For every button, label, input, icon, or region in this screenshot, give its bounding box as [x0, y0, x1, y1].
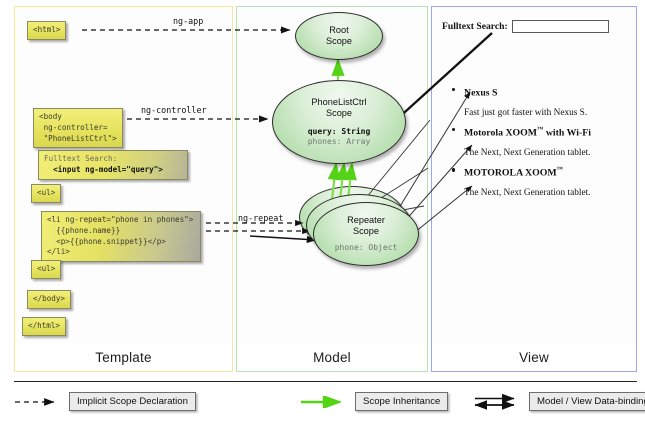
phone-name: Nexus S — [447, 86, 632, 100]
double-arrow-icon — [474, 394, 522, 410]
legend-item-model-view-data-binding: Model / View Data-binding — [474, 392, 645, 411]
code-box-body-close: </body> — [27, 290, 71, 309]
scope-phonelistctrl-title: PhoneListCtrlScope — [311, 97, 366, 119]
code-box-ul-open: <ul> — [31, 184, 61, 203]
column-label-view: View — [431, 344, 637, 372]
phone-name-text: Motorola XOOM — [464, 127, 537, 138]
search-box-code: <input ng-model="query"> — [53, 165, 163, 174]
scope-repeater-line1: Repeater — [347, 215, 385, 225]
legend-divider — [14, 381, 637, 382]
scope-phonelistctrl-line1: PhoneListCtrl — [311, 97, 366, 107]
scope-repeater-line2: Scope — [353, 226, 379, 236]
phone-snippet: The Next, Next Generation tablet. — [447, 147, 632, 159]
scope-prop-phone: phone: Object — [335, 243, 398, 253]
label-ng-repeat: ng-repeat — [238, 213, 283, 223]
scope-root-line1: Root — [329, 25, 348, 35]
phone-name: Motorola XOOM™ with Wi-Fi — [447, 126, 632, 140]
legend-label: Model / View Data-binding — [529, 392, 645, 411]
phone-snippet: Fast just got faster with Nexus S. — [447, 107, 632, 119]
phone-name-text: Nexus S — [464, 87, 497, 98]
dashed-arrow-icon — [14, 396, 62, 408]
label-ng-app: ng-app — [173, 16, 203, 26]
bullet-icon — [452, 168, 455, 171]
bullet-icon — [452, 128, 455, 131]
phone-name-text: MOTOROLA XOOM — [464, 167, 557, 178]
legend: Implicit Scope Declaration Scope Inherit… — [14, 388, 637, 418]
phone-name: MOTOROLA XOOM™ — [447, 166, 632, 180]
view-search-row: Fulltext Search: — [442, 20, 609, 33]
code-box-html-close: </html> — [22, 317, 66, 336]
view-panel: Fulltext Search: Nexus S Fast just got f… — [431, 6, 637, 344]
scope-root-title: RootScope — [326, 25, 352, 47]
code-box-body-open: <body ng-controller= "PhoneListCtrl"> — [33, 108, 123, 148]
code-box-ul-close: <ul> — [31, 260, 61, 279]
legend-item-scope-inheritance: Scope Inheritance — [300, 392, 448, 411]
diagram-canvas: ng-app ng-controller ng-repeat <html> <b… — [0, 0, 645, 425]
trademark-icon: ™ — [557, 166, 563, 173]
code-box-li-repeat: <li ng-repeat="phone in phones"> {{phone… — [41, 211, 201, 262]
search-box-label: Fulltext Search: — [44, 154, 117, 163]
scope-repeater: RepeaterScope phone: Object — [313, 202, 419, 266]
scope-root: RootScope — [295, 12, 383, 60]
column-label-template: Template — [14, 344, 233, 372]
code-box-fulltext-search: Fulltext Search: <input ng-model="query"… — [38, 150, 188, 180]
phone-name-suffix: with Wi-Fi — [543, 127, 591, 138]
legend-item-implicit-scope-declaration: Implicit Scope Declaration — [14, 392, 196, 411]
scope-repeater-title: RepeaterScope — [347, 215, 385, 237]
bullet-icon — [452, 88, 455, 91]
scope-root-line2: Scope — [326, 36, 352, 46]
legend-label: Implicit Scope Declaration — [69, 392, 196, 411]
code-box-html-open: <html> — [27, 21, 66, 40]
scope-phonelistctrl-line2: Scope — [326, 108, 352, 118]
view-phone-list: Nexus S Fast just got faster with Nexus … — [447, 86, 632, 206]
column-label-model: Model — [236, 344, 428, 372]
view-search-label: Fulltext Search: — [442, 21, 508, 32]
scope-prop-query: query: String — [308, 127, 371, 137]
scope-prop-phones: phones: Array — [308, 137, 371, 147]
list-item: Nexus S Fast just got faster with Nexus … — [447, 86, 632, 119]
phone-snippet: The Next, Next Generation tablet. — [447, 187, 632, 199]
legend-label: Scope Inheritance — [355, 392, 448, 411]
label-ng-controller: ng-controller — [141, 105, 207, 115]
green-arrow-icon — [300, 396, 348, 408]
list-item: Motorola XOOM™ with Wi-Fi The Next, Next… — [447, 126, 632, 159]
scope-phonelistctrl: PhoneListCtrlScope query: String phones:… — [272, 80, 406, 164]
list-item: MOTOROLA XOOM™ The Next, Next Generation… — [447, 166, 632, 199]
view-search-input[interactable] — [512, 20, 609, 33]
